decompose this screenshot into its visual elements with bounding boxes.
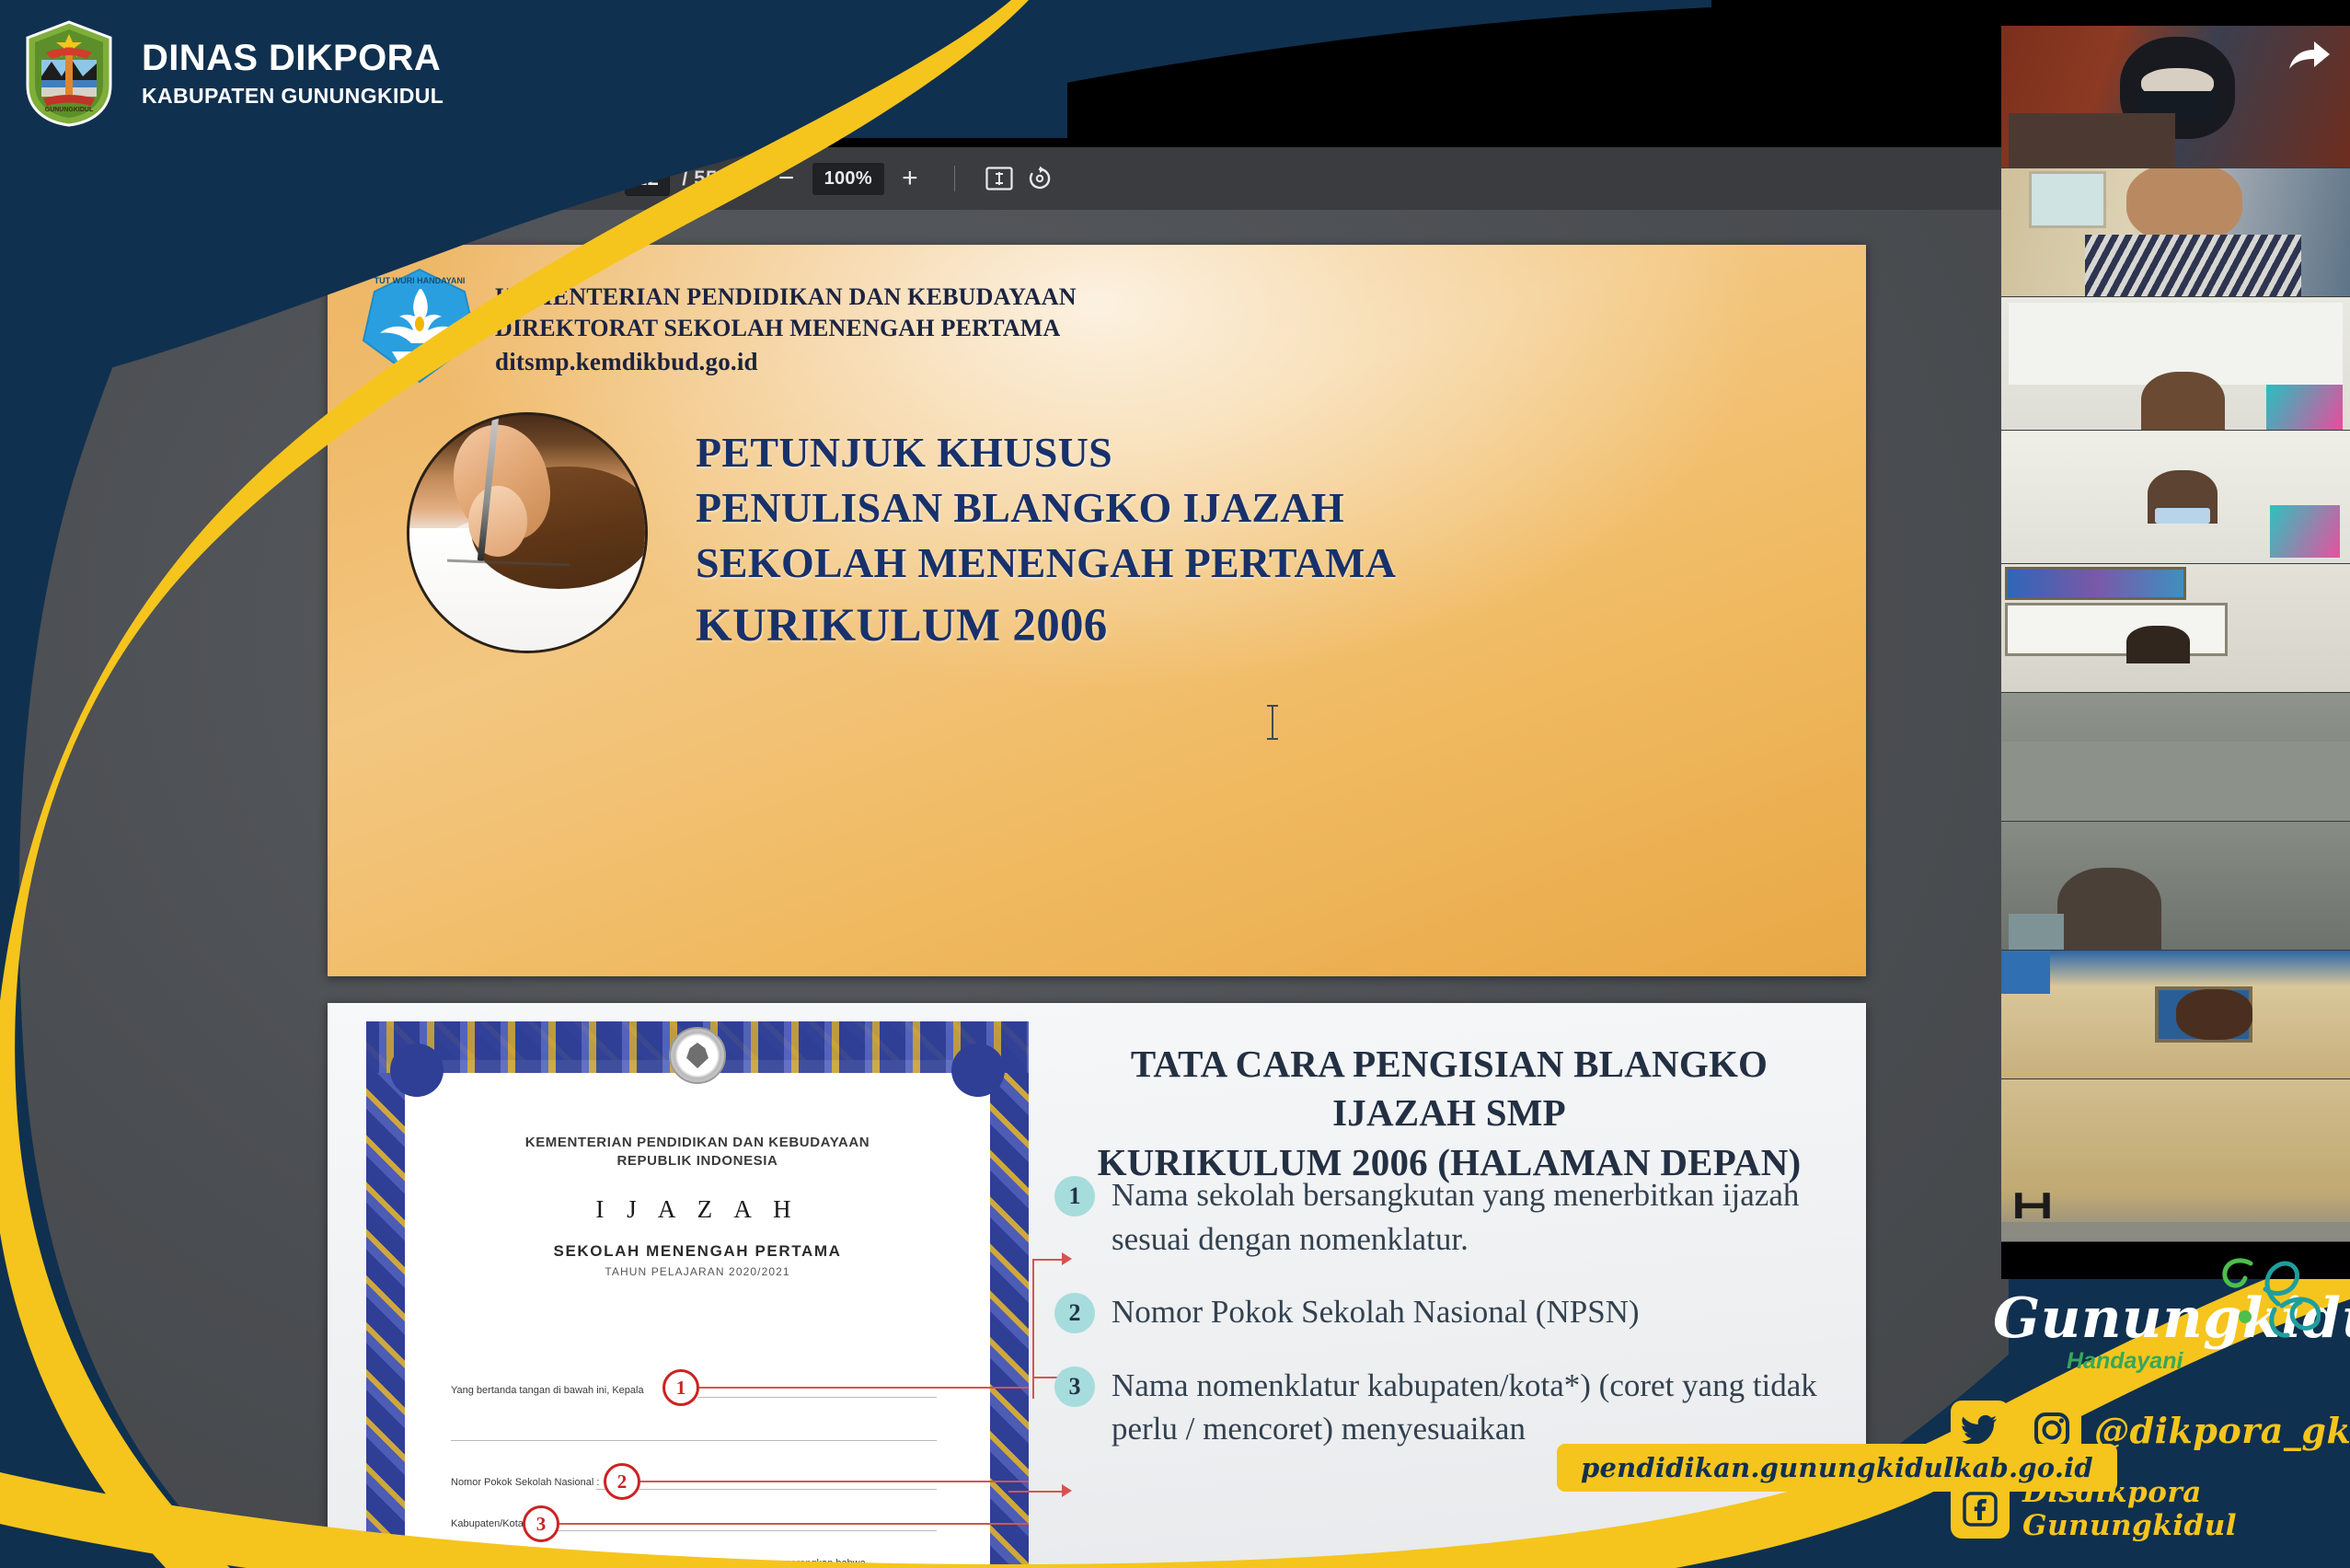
- ministry-heading: KEMENTERIAN PENDIDIKAN DAN KEBUDAYAAN DI…: [495, 282, 1077, 378]
- list-item-number: 1: [1054, 1176, 1095, 1216]
- org-name: DINAS DIKPORA: [142, 39, 444, 78]
- list-item-number: 2: [1054, 1293, 1095, 1333]
- instructions-list: 1 Nama sekolah bersangkutan yang menerbi…: [1054, 1173, 1857, 1481]
- slide-title-line-4: KURIKULUM 2006: [696, 595, 1781, 656]
- gunungkidul-regency-crest: GUNUNGKIDUL: [20, 19, 118, 128]
- participant-tile-7[interactable]: [2001, 822, 2350, 951]
- batik-flourish-icon: [2210, 1249, 2321, 1349]
- list-item-text: Nama nomenklatur kabupaten/kota*) (coret…: [1112, 1364, 1857, 1451]
- list-item-number: 3: [1054, 1366, 1095, 1407]
- header-brand: GUNUNGKIDUL DINAS DIKPORA KABUPATEN GUNU…: [0, 0, 644, 147]
- list-item-text: Nama sekolah bersangkutan yang menerbitk…: [1112, 1173, 1857, 1261]
- connector-line-3: [1008, 1491, 1064, 1493]
- slide-title-line-2: PENULISAN BLANGKO IJAZAH: [696, 480, 1781, 536]
- instructions-heading: TATA CARA PENGISIAN BLANGKO IJAZAH SMP K…: [1054, 1040, 1844, 1187]
- ministry-line-2: DIREKTORAT SEKOLAH MENENGAH PERTAMA: [495, 313, 1077, 344]
- connector-line-2: [1032, 1338, 1034, 1399]
- website-url-badge[interactable]: pendidikan.gunungkidulkab.go.id: [1557, 1444, 2117, 1492]
- list-item: 2 Nomor Pokok Sekolah Nasional (NPSN): [1054, 1290, 1857, 1334]
- slide-title: PETUNJUK KHUSUS PENULISAN BLANGKO IJAZAH…: [696, 425, 1781, 657]
- svg-text:TUT WURI HANDAYANI: TUT WURI HANDAYANI: [374, 276, 466, 285]
- cert-marker-3: 3: [523, 1505, 559, 1542]
- pdf-page-12: TUT WURI HANDAYANI KEMENTERIAN PENDIDIKA…: [328, 245, 1866, 976]
- pdf-page-scroll-area[interactable]: TUT WURI HANDAYANI KEMENTERIAN PENDIDIKA…: [0, 210, 2009, 1568]
- screen-share-stage: 12 / 55 − 100% +: [0, 0, 2350, 1568]
- cert-marker-1: 1: [662, 1369, 699, 1406]
- garuda-emblem-icon: [669, 1027, 726, 1084]
- toolbar-divider-2: [954, 166, 955, 191]
- ministry-line-1: KEMENTERIAN PENDIDIKAN DAN KEBUDAYAAN: [495, 282, 1077, 313]
- ijazah-certificate-image: KEMENTERIAN PENDIDIKAN DAN KEBUDAYAAN RE…: [366, 1021, 1029, 1568]
- cert-ministry-line-2: REPUBLIK INDONESIA: [449, 1152, 946, 1170]
- zoom-in-button[interactable]: +: [890, 158, 930, 199]
- participant-tile-1[interactable]: [2001, 26, 2350, 168]
- participant-tile-8[interactable]: [2001, 951, 2350, 1079]
- rotate-clockwise-icon[interactable]: [1019, 158, 1060, 199]
- fit-page-icon[interactable]: [979, 158, 1019, 199]
- zoom-level-input[interactable]: 100%: [812, 163, 884, 195]
- participant-tile-6[interactable]: [2001, 693, 2350, 822]
- social-handle: @dikpora_gk: [2094, 1410, 2350, 1451]
- slide-title-line-1: PETUNJUK KHUSUS: [696, 425, 1781, 480]
- connector-line-1: [1032, 1259, 1034, 1338]
- svg-text:GUNUNGKIDUL: GUNUNGKIDUL: [45, 107, 94, 113]
- cert-field-3: Kabupaten/Kota: [451, 1518, 524, 1529]
- participant-tile-2[interactable]: [2001, 168, 2350, 297]
- share-arrow-icon[interactable]: [2287, 39, 2332, 80]
- video-rail-topbar: [2001, 0, 2350, 26]
- ministry-website: ditsmp.kemdikbud.go.id: [495, 346, 1077, 378]
- gunungkidul-brand: Gunungkidul Handayani: [1958, 1291, 2326, 1375]
- heading-line-1: TATA CARA PENGISIAN BLANGKO IJAZAH SMP: [1054, 1040, 1844, 1138]
- participant-tile-9[interactable]: [2001, 1079, 2350, 1242]
- participant-video-rail[interactable]: [2001, 0, 2350, 1279]
- participant-tile-4[interactable]: [2001, 431, 2350, 564]
- list-item: 3 Nama nomenklatur kabupaten/kota*) (cor…: [1054, 1364, 1857, 1451]
- cert-ministry-line-1: KEMENTERIAN PENDIDIKAN DAN KEBUDAYAAN: [449, 1134, 946, 1152]
- zoom-out-button[interactable]: −: [766, 158, 807, 199]
- toolbar-divider-1: [742, 166, 743, 191]
- cert-level: SEKOLAH MENENGAH PERTAMA: [449, 1242, 946, 1261]
- tut-wuri-handayani-logo: TUT WURI HANDAYANI: [361, 267, 478, 385]
- cert-field-2: Nomor Pokok Sekolah Nasional :: [451, 1477, 599, 1488]
- slide-cover: TUT WURI HANDAYANI KEMENTERIAN PENDIDIKA…: [328, 245, 1866, 976]
- certificate-body: KEMENTERIAN PENDIDIKAN DAN KEBUDAYAAN RE…: [449, 1134, 946, 1278]
- text-cursor: [1272, 705, 1273, 740]
- list-item: 1 Nama sekolah bersangkutan yang menerbi…: [1054, 1173, 1857, 1261]
- cert-marker-2: 2: [604, 1463, 640, 1500]
- hand-writing-photo: [407, 412, 648, 653]
- participant-tile-3[interactable]: [2001, 297, 2350, 431]
- cert-title: I J A Z A H: [449, 1195, 946, 1224]
- website-url: pendidikan.gunungkidulkab.go.id: [1581, 1452, 2093, 1483]
- participant-tile-5[interactable]: [2001, 564, 2350, 693]
- list-item-text: Nomor Pokok Sekolah Nasional (NPSN): [1112, 1290, 1640, 1334]
- cert-field-1: Yang bertanda tangan di bawah ini, Kepal…: [451, 1385, 644, 1396]
- org-region: KABUPATEN GUNUNGKIDUL: [142, 84, 444, 109]
- connector-arrow-3: [1062, 1484, 1072, 1497]
- gunungkidul-tagline: Handayani: [1958, 1348, 2326, 1375]
- slide-title-line-3: SEKOLAH MENENGAH PERTAMA: [696, 536, 1781, 591]
- cert-year: TAHUN PELAJARAN 2020/2021: [449, 1265, 946, 1278]
